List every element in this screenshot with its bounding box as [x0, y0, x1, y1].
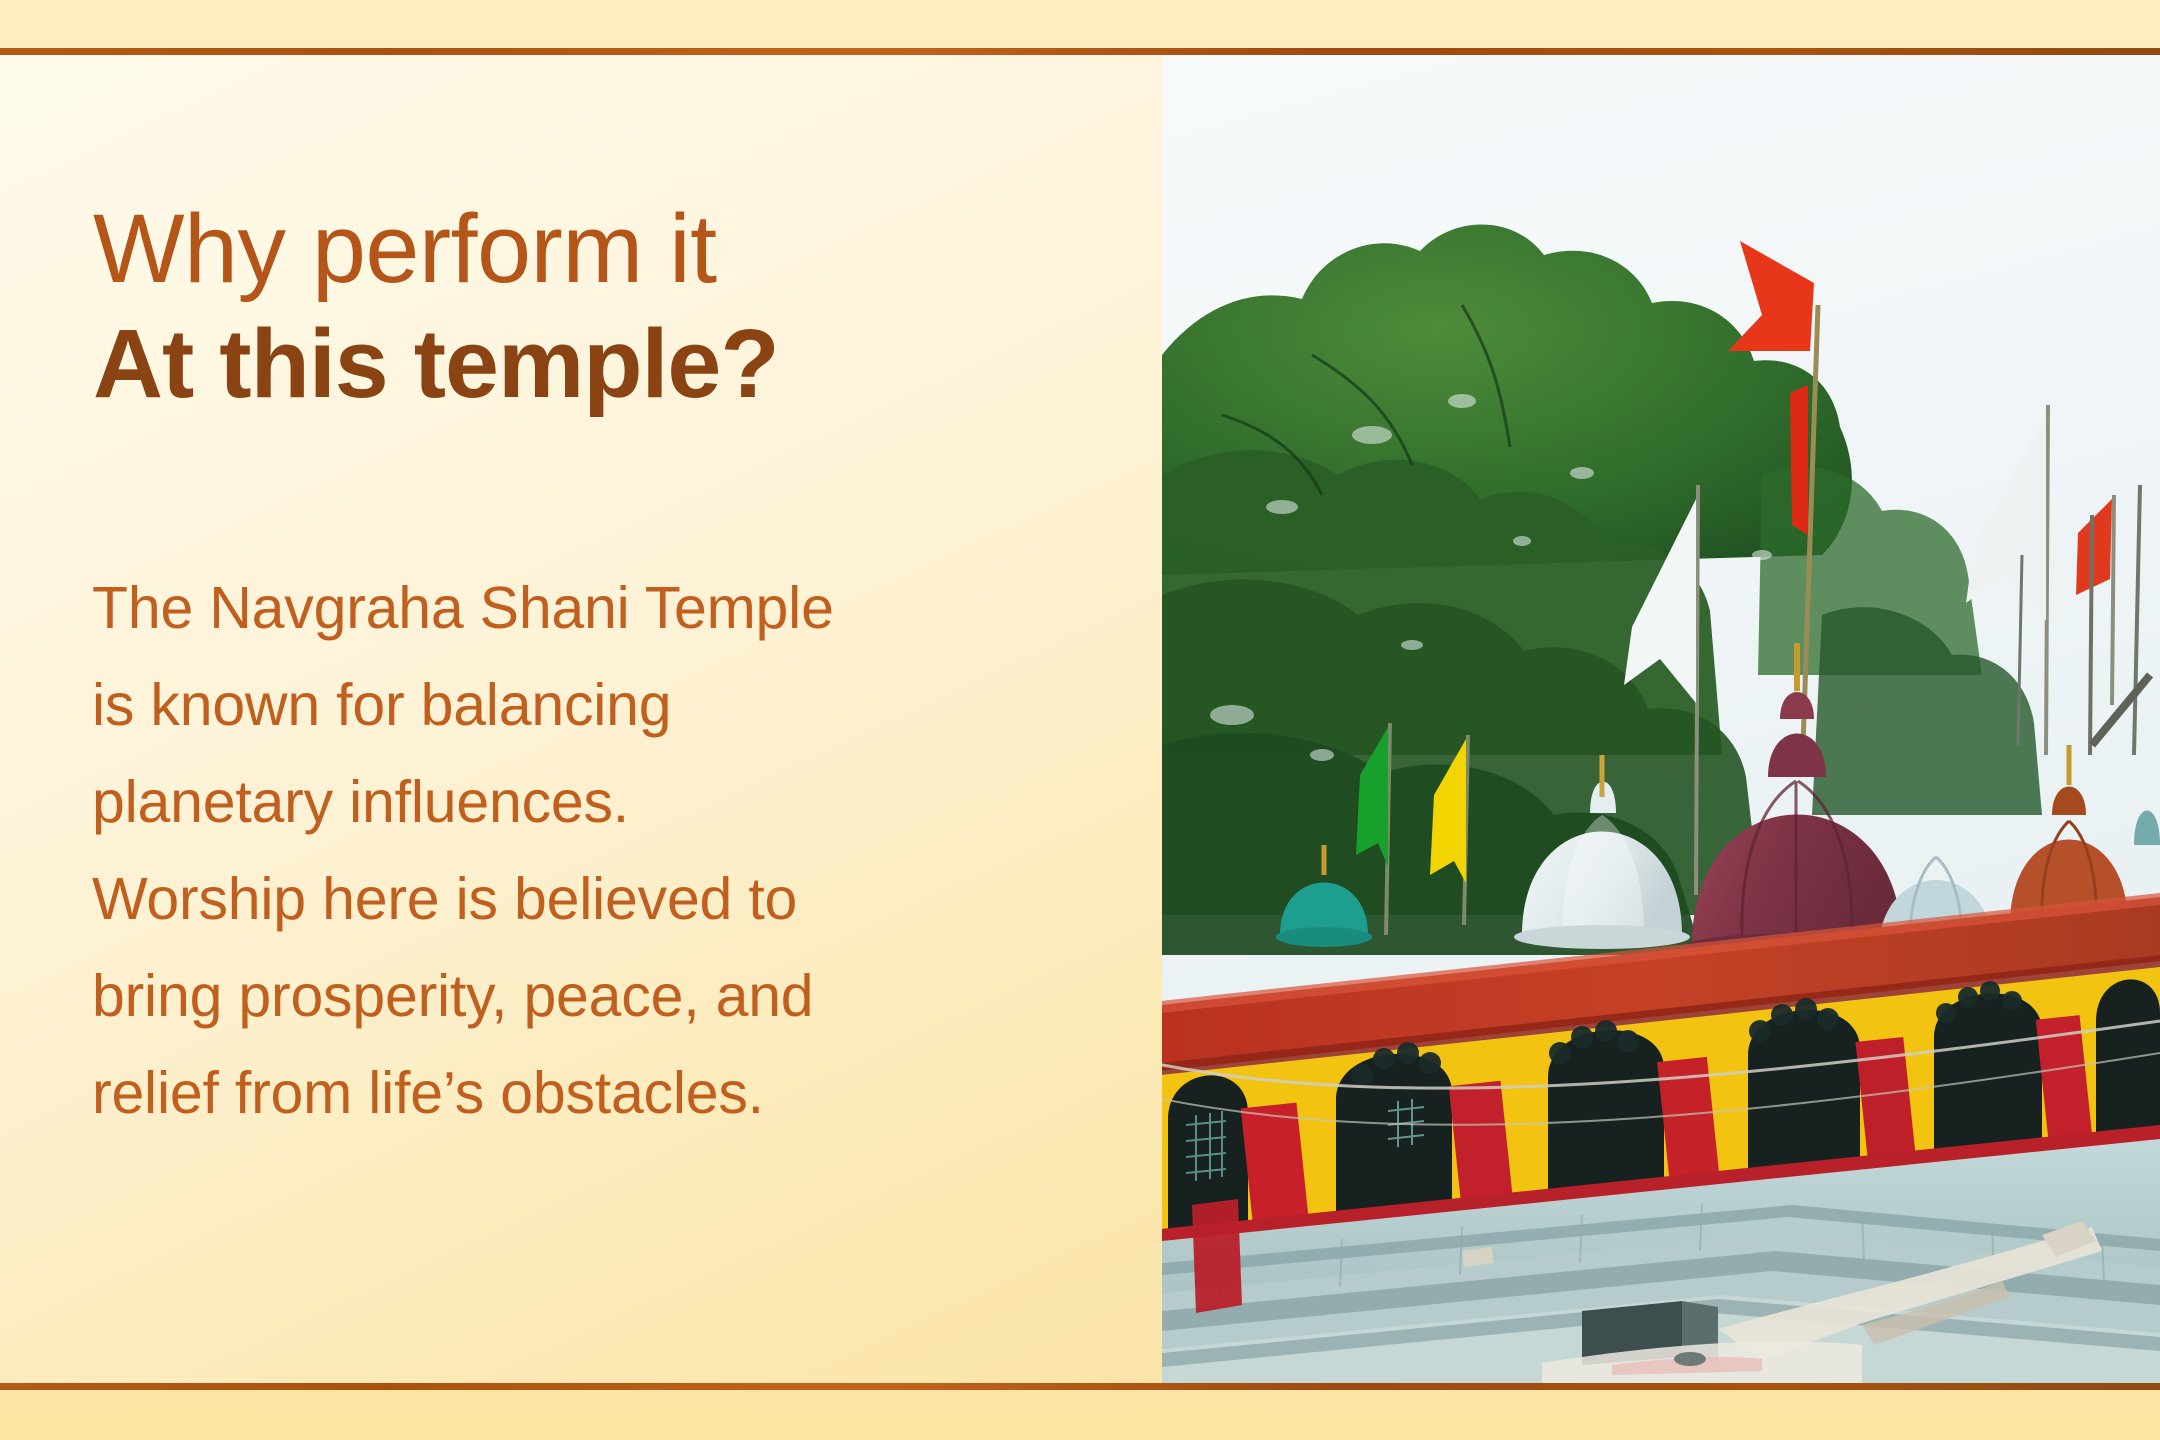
red-flag-second — [1790, 385, 1808, 535]
body-line: planetary influences. — [92, 754, 1102, 851]
antenna-pole — [2090, 515, 2092, 755]
page-title: Why perform it At this temple? — [93, 195, 1103, 418]
heading-line-2: At this temple? — [93, 310, 1103, 419]
body-line: relief from life’s obstacles. — [92, 1045, 1102, 1142]
slide-canvas: Why perform it At this temple? The Navgr… — [0, 0, 2160, 1440]
pillar-base — [1192, 1199, 1242, 1313]
body-paragraph: The Navgraha Shani Temple is known for b… — [92, 560, 1102, 1142]
heading-line-1: Why perform it — [93, 195, 1103, 304]
text-panel: Why perform it At this temple? The Navgr… — [0, 55, 1162, 1383]
body-line: is known for balancing — [92, 657, 1102, 754]
body-line: bring prosperity, peace, and — [92, 948, 1102, 1045]
temple-photo — [1162, 55, 2160, 1383]
flagpole — [2046, 405, 2048, 755]
body-line: Worship here is believed to — [92, 851, 1102, 948]
top-accent-rule — [0, 48, 2160, 55]
flagpole — [2112, 495, 2114, 705]
body-line: The Navgraha Shani Temple — [92, 560, 1102, 657]
flagpole — [1696, 485, 1698, 895]
bottom-accent-rule — [0, 1383, 2160, 1390]
debris-chunk — [1674, 1352, 1706, 1366]
temple-photo-illustration — [1162, 55, 2160, 1383]
